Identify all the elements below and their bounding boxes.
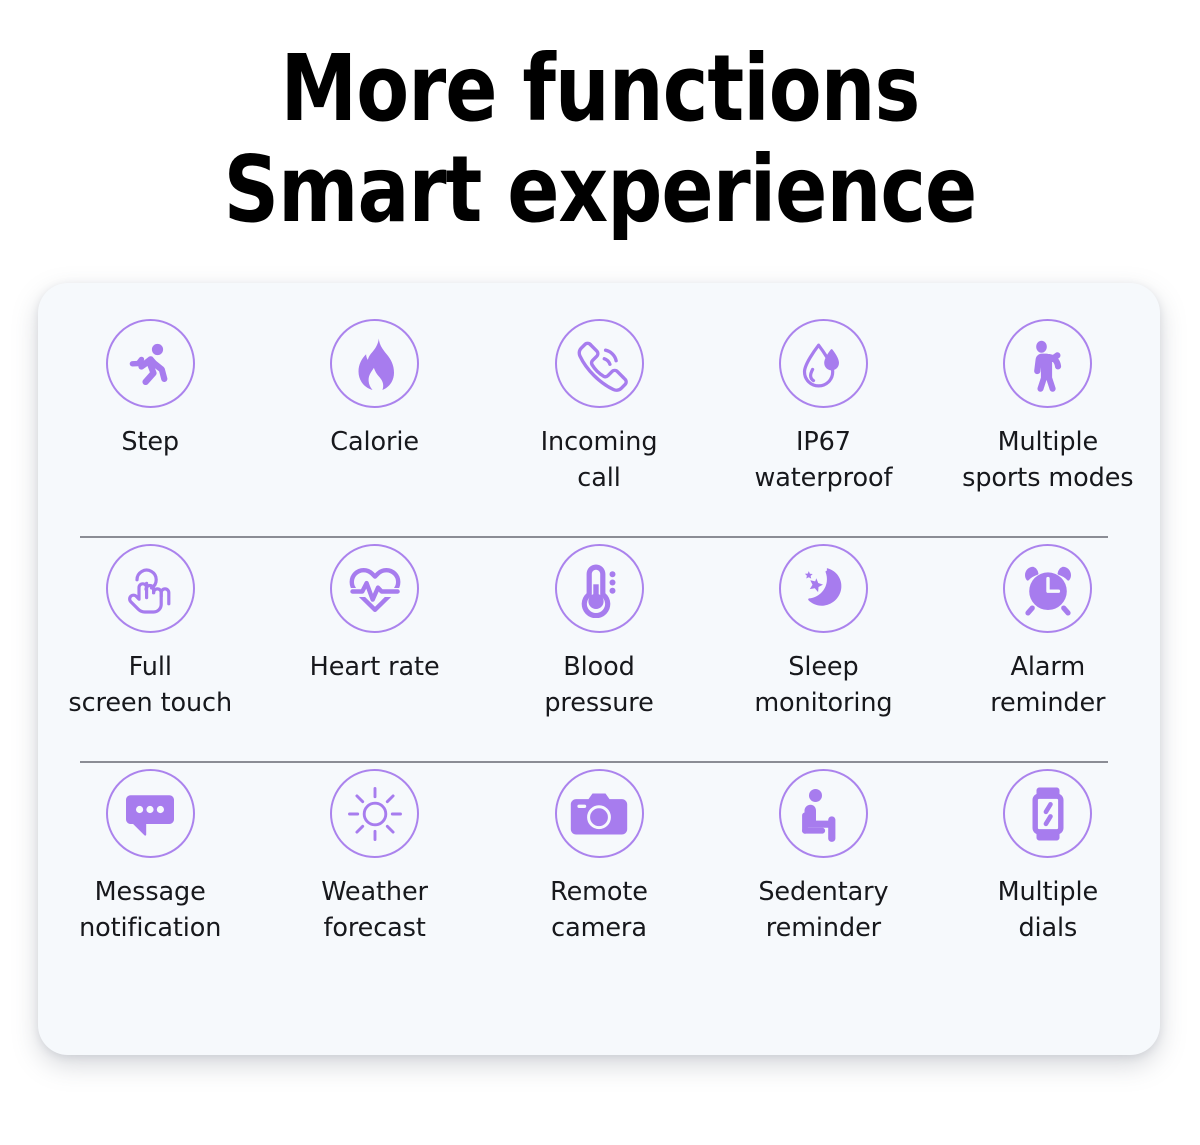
smartwatch-icon — [1003, 769, 1092, 858]
feature-cell-ip67-waterproof[interactable]: IP67 waterproof — [711, 301, 935, 526]
feature-row: Full screen touch Heart rate — [38, 526, 1160, 751]
features-card: Step Calorie — [38, 283, 1160, 1055]
feature-cell-incoming-call[interactable]: Incoming call — [487, 301, 711, 526]
feature-cell-sedentary-reminder[interactable]: Sedentary reminder — [711, 751, 935, 976]
touch-hand-icon — [106, 544, 195, 633]
speech-bubble-icon — [106, 769, 195, 858]
feature-label: Full screen touch — [68, 649, 232, 721]
feature-cell-alarm-reminder[interactable]: Alarm reminder — [936, 526, 1160, 751]
alarm-clock-icon — [1003, 544, 1092, 633]
feature-label: IP67 waterproof — [754, 424, 892, 496]
feature-cell-remote-camera[interactable]: Remote camera — [487, 751, 711, 976]
moon-stars-icon — [779, 544, 868, 633]
thermometer-icon — [555, 544, 644, 633]
feature-label: Sleep monitoring — [754, 649, 892, 721]
feature-label: Incoming call — [541, 424, 658, 496]
heart-pulse-icon — [330, 544, 419, 633]
features-grid: Step Calorie — [38, 283, 1160, 1055]
feature-label: Alarm reminder — [990, 649, 1105, 721]
feature-cell-heart-rate[interactable]: Heart rate — [262, 526, 486, 751]
feature-label: Remote camera — [550, 874, 648, 946]
feature-row: Step Calorie — [38, 301, 1160, 526]
feature-cell-full-screen-touch[interactable]: Full screen touch — [38, 526, 262, 751]
page-title-line-1: More functions — [42, 38, 1158, 139]
sun-icon — [330, 769, 419, 858]
camera-icon — [555, 769, 644, 858]
feature-label: Multiple sports modes — [962, 424, 1133, 496]
running-person-icon — [106, 319, 195, 408]
feature-cell-step[interactable]: Step — [38, 301, 262, 526]
feature-cell-weather-forecast[interactable]: Weather forecast — [262, 751, 486, 976]
feature-cell-multiple-dials[interactable]: Multiple dials — [936, 751, 1160, 976]
feature-label: Step — [121, 424, 179, 460]
feature-label: Weather forecast — [321, 874, 428, 946]
page-title-line-2: Smart experience — [42, 139, 1158, 240]
feature-label: Calorie — [330, 424, 419, 460]
water-drop-icon — [779, 319, 868, 408]
incoming-call-icon — [555, 319, 644, 408]
seated-person-icon — [779, 769, 868, 858]
page-title: More functions Smart experience — [0, 38, 1200, 240]
feature-row: Message notification — [38, 751, 1160, 976]
feature-label: Heart rate — [310, 649, 440, 685]
feature-label: Message notification — [79, 874, 221, 946]
feature-cell-sports-modes[interactable]: Multiple sports modes — [936, 301, 1160, 526]
feature-label: Multiple dials — [998, 874, 1099, 946]
stretching-person-icon — [1003, 319, 1092, 408]
feature-infographic-page: More functions Smart experience — [0, 0, 1200, 1145]
feature-cell-calorie[interactable]: Calorie — [262, 301, 486, 526]
feature-cell-sleep-monitoring[interactable]: Sleep monitoring — [711, 526, 935, 751]
flame-icon — [330, 319, 419, 408]
feature-label: Blood pressure — [544, 649, 653, 721]
feature-cell-message-notification[interactable]: Message notification — [38, 751, 262, 976]
feature-label: Sedentary reminder — [758, 874, 888, 946]
feature-cell-blood-pressure[interactable]: Blood pressure — [487, 526, 711, 751]
